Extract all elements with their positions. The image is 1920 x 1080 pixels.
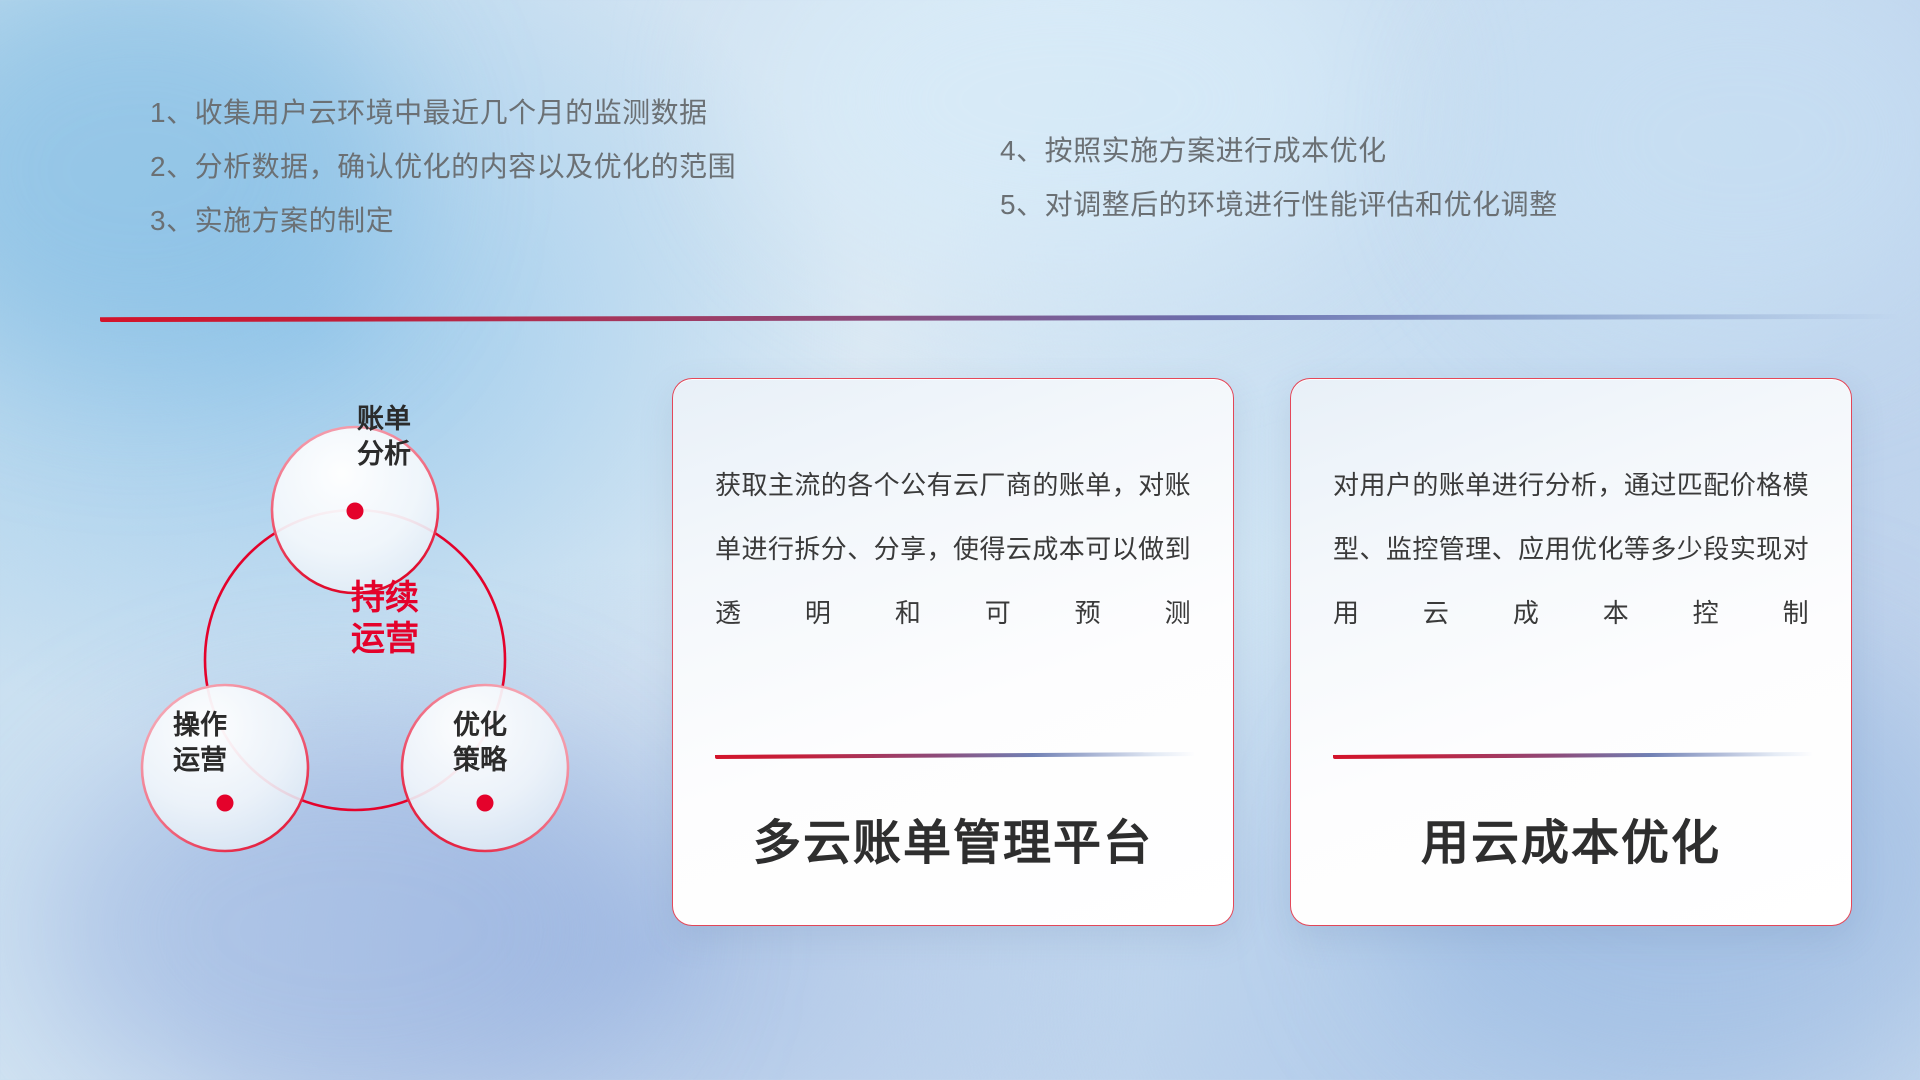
- venn-label-center-line1: 持续: [300, 578, 470, 619]
- card-title: 多云账单管理平台: [673, 803, 1233, 873]
- venn-label-bottom-left: 操作 运营: [115, 708, 285, 777]
- step-item-1: 1、收集用户云环境中最近几个月的监测数据: [150, 86, 736, 140]
- venn-label-bottom-right: 优化 策略: [395, 708, 565, 777]
- venn-label-bottom-left-line2: 运营: [115, 743, 285, 778]
- card-body-text: 对用户的账单进行分析，通过匹配价格模型、监控管理、应用优化等多少段实现对用云成本…: [1333, 453, 1809, 645]
- header-divider-rule: [100, 314, 1900, 322]
- venn-label-center-line2: 运营: [300, 619, 470, 660]
- venn-label-top-line1: 账单: [299, 402, 469, 437]
- card-divider-rule: [715, 752, 1195, 759]
- card-multicloud-billing[interactable]: 获取主流的各个公有云厂商的账单，对账单进行拆分、分享，使得云成本可以做到透明和可…: [672, 378, 1234, 926]
- venn-node-dot-bottom-right: [477, 795, 494, 812]
- venn-diagram: 账单 分析 持续 运营 操作 运营 优化 策略: [95, 350, 615, 950]
- step-item-4: 4、按照实施方案进行成本优化: [1000, 124, 1558, 178]
- card-group: 获取主流的各个公有云厂商的账单，对账单进行拆分、分享，使得云成本可以做到透明和可…: [672, 378, 1852, 938]
- venn-label-bottom-right-line2: 策略: [395, 743, 565, 778]
- steps-list: 1、收集用户云环境中最近几个月的监测数据 2、分析数据，确认优化的内容以及优化的…: [0, 86, 1920, 256]
- venn-label-center: 持续 运营: [300, 578, 470, 661]
- venn-label-top: 账单 分析: [299, 402, 469, 471]
- card-cloud-cost-optimization[interactable]: 对用户的账单进行分析，通过匹配价格模型、监控管理、应用优化等多少段实现对用云成本…: [1290, 378, 1852, 926]
- step-item-2: 2、分析数据，确认优化的内容以及优化的范围: [150, 140, 736, 194]
- steps-left-column: 1、收集用户云环境中最近几个月的监测数据 2、分析数据，确认优化的内容以及优化的…: [150, 86, 736, 248]
- venn-label-bottom-left-line1: 操作: [115, 708, 285, 743]
- card-divider-rule: [1333, 752, 1813, 759]
- step-item-5: 5、对调整后的环境进行性能评估和优化调整: [1000, 178, 1558, 232]
- step-item-3: 3、实施方案的制定: [150, 194, 736, 248]
- venn-label-top-line2: 分析: [299, 437, 469, 472]
- steps-right-column: 4、按照实施方案进行成本优化 5、对调整后的环境进行性能评估和优化调整: [1000, 124, 1558, 232]
- venn-node-dot-top: [347, 503, 364, 520]
- card-body-text: 获取主流的各个公有云厂商的账单，对账单进行拆分、分享，使得云成本可以做到透明和可…: [715, 453, 1191, 645]
- card-title: 用云成本优化: [1291, 803, 1851, 873]
- venn-node-dot-bottom-left: [217, 795, 234, 812]
- venn-label-bottom-right-line1: 优化: [395, 708, 565, 743]
